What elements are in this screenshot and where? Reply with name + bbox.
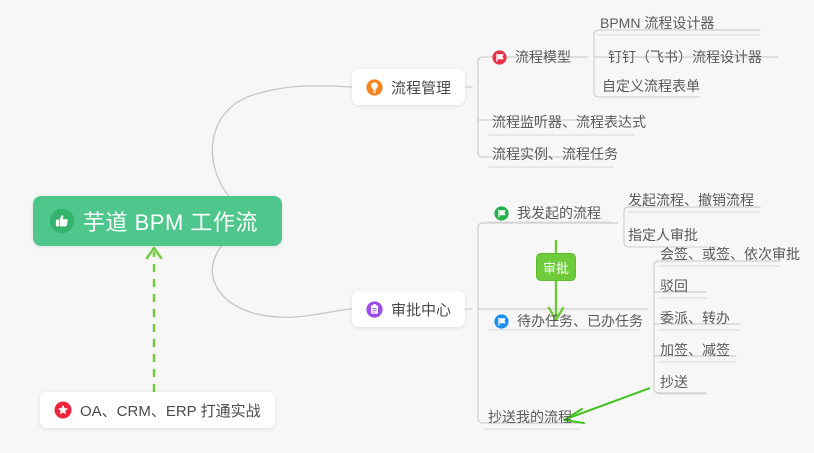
node-label-process-instance-task: 流程实例、流程任务 — [492, 144, 618, 164]
thumbs-up-icon — [49, 208, 75, 234]
node-label-add-remove-sign: 加签、减签 — [660, 340, 730, 360]
node-add-remove-sign[interactable]: 加签、减签 — [658, 335, 736, 365]
node-label-todo-done-tasks: 待办任务、已办任务 — [517, 311, 643, 331]
approval-edge-badge-label: 审批 — [543, 258, 569, 277]
node-label-process-listener-expression: 流程监听器、流程表达式 — [492, 112, 646, 132]
node-label-cc: 抄送 — [660, 372, 688, 392]
node-cc[interactable]: 抄送 — [658, 367, 694, 397]
node-label-my-initiated-processes: 我发起的流程 — [517, 203, 601, 223]
branch-label-approval-center: 审批中心 — [391, 299, 451, 320]
node-label-delegate-transfer: 委派、转办 — [660, 308, 730, 328]
lightbulb-icon — [366, 79, 383, 96]
branch-label-process-management: 流程管理 — [391, 77, 451, 98]
node-process-instance-task[interactable]: 流程实例、流程任务 — [490, 139, 624, 169]
node-label-custom-process-form: 自定义流程表单 — [602, 76, 700, 96]
branch-node-approval-center[interactable]: 审批中心 — [352, 291, 465, 327]
node-label-bpmn-designer: BPMN 流程设计器 — [600, 13, 714, 33]
node-delegate-transfer[interactable]: 委派、转办 — [658, 303, 736, 333]
branch-node-process-management[interactable]: 流程管理 — [352, 69, 465, 105]
node-cc-to-me-processes[interactable]: 抄送我的流程 — [486, 402, 578, 432]
flag-icon-blue — [494, 314, 509, 329]
node-start-cancel-process[interactable]: 发起流程、撤销流程 — [626, 185, 760, 215]
root-node[interactable]: 芋道 BPM 工作流 — [33, 196, 282, 246]
floating-node-label-oa-crm-erp: OA、CRM、ERP 打通实战 — [80, 400, 261, 421]
node-bpmn-designer[interactable]: BPMN 流程设计器 — [598, 8, 720, 38]
node-custom-process-form[interactable]: 自定义流程表单 — [600, 71, 706, 101]
node-label-process-model: 流程模型 — [515, 47, 571, 67]
node-countersign-orsign-sequential[interactable]: 会签、或签、依次审批 — [658, 239, 806, 269]
node-label-start-cancel-process: 发起流程、撤销流程 — [628, 190, 754, 210]
star-icon — [54, 401, 72, 419]
root-label: 芋道 BPM 工作流 — [83, 205, 258, 237]
node-label-cc-to-me-processes: 抄送我的流程 — [488, 407, 572, 427]
dashed-up-arrow-line — [147, 248, 161, 392]
approval-edge-badge[interactable]: 审批 — [536, 253, 576, 281]
node-todo-done-tasks[interactable]: 待办任务、已办任务 — [492, 306, 649, 336]
mindmap-canvas: 芋道 BPM 工作流 流程管理 审批中心 — [0, 0, 814, 453]
node-label-reject: 驳回 — [660, 276, 688, 296]
node-process-listener-expression[interactable]: 流程监听器、流程表达式 — [490, 107, 652, 137]
flag-icon-green — [494, 206, 509, 221]
node-label-dingtalk-feishu-designer: 钉钉（飞书）流程设计器 — [608, 47, 762, 67]
node-my-initiated-processes[interactable]: 我发起的流程 — [492, 198, 607, 228]
flag-icon-red — [492, 50, 507, 65]
clipboard-icon — [366, 301, 383, 318]
node-reject[interactable]: 驳回 — [658, 271, 694, 301]
node-dingtalk-feishu-designer[interactable]: 钉钉（飞书）流程设计器 — [606, 42, 768, 72]
floating-node-oa-crm-erp[interactable]: OA、CRM、ERP 打通实战 — [40, 392, 275, 428]
node-label-countersign-orsign-sequential: 会签、或签、依次审批 — [660, 244, 800, 264]
node-process-model[interactable]: 流程模型 — [490, 42, 577, 72]
